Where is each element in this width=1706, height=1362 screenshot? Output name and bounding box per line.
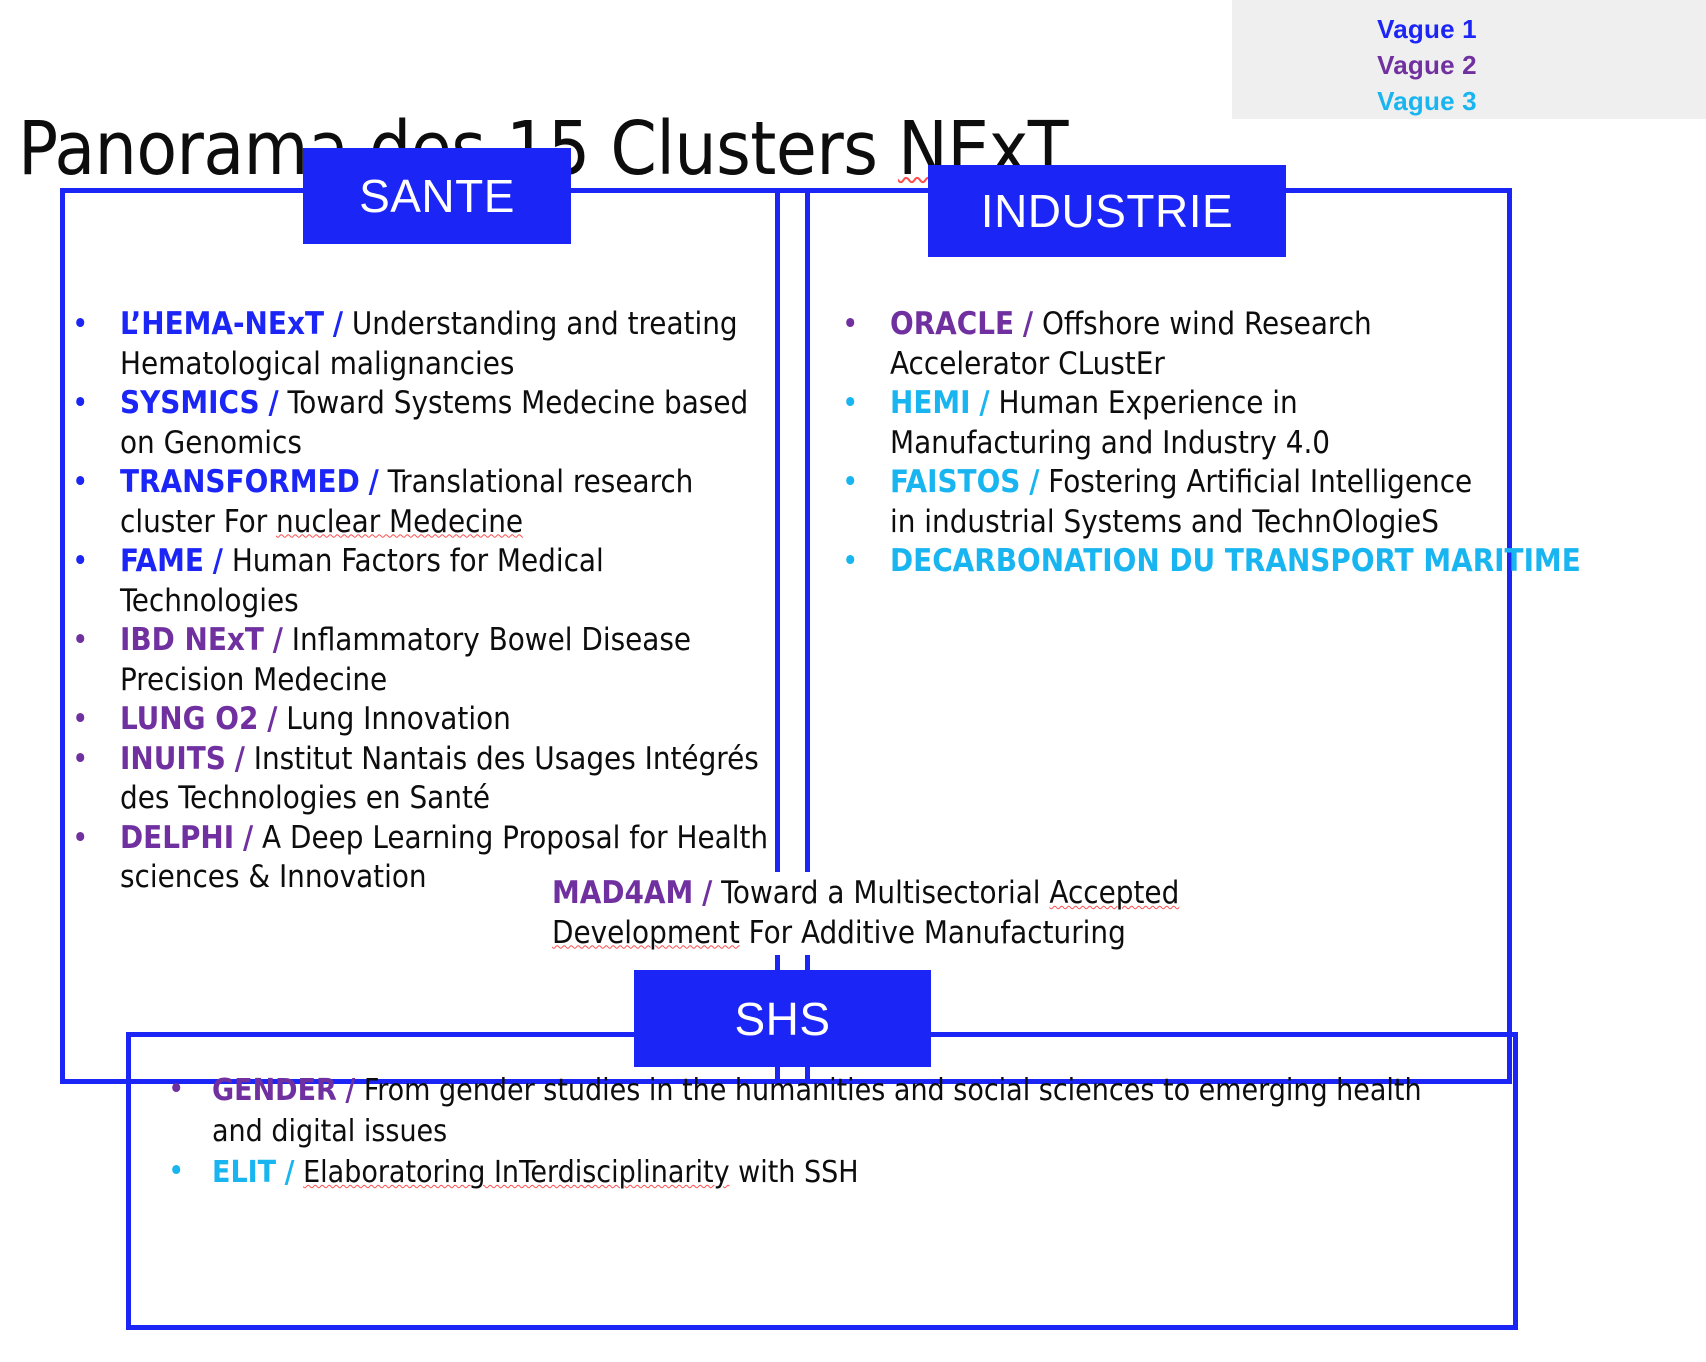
cluster-acronym: INUITS bbox=[120, 741, 226, 777]
separator-slash: / bbox=[213, 543, 223, 579]
cluster-acronym: DELPHI bbox=[120, 820, 234, 856]
section-header-shs: SHS bbox=[634, 970, 931, 1067]
bullet-icon: • bbox=[842, 305, 858, 345]
separator-slash: / bbox=[345, 1073, 355, 1108]
cluster-acronym: MAD4AM bbox=[552, 875, 693, 911]
section-header-industrie: INDUSTRIE bbox=[928, 165, 1286, 257]
bullet-icon: • bbox=[168, 1070, 184, 1110]
cluster-acronym: L’HEMA-NExT bbox=[120, 306, 324, 342]
cluster-acronym: FAISTOS bbox=[890, 464, 1020, 500]
bullet-icon: • bbox=[842, 463, 858, 503]
separator-slash: / bbox=[273, 622, 283, 658]
list-item: •FAME / Human Factors for Medical Techno… bbox=[62, 542, 772, 621]
cluster-acronym: GENDER bbox=[212, 1073, 337, 1108]
bullet-icon: • bbox=[72, 621, 88, 661]
list-item: •LUNG O2 / Lung Innovation bbox=[62, 700, 772, 740]
industrie-cluster-list: •ORACLE / Offshore wind Research Acceler… bbox=[832, 305, 1492, 582]
list-item: •ORACLE / Offshore wind Research Acceler… bbox=[832, 305, 1492, 384]
bullet-icon: • bbox=[72, 700, 88, 740]
spellcheck-underlined-text: nuclear Medecine bbox=[276, 504, 523, 540]
separator-slash: / bbox=[1029, 464, 1039, 500]
shs-cluster-list: •GENDER / From gender studies in the hum… bbox=[140, 1070, 1480, 1193]
wave-legend: Vague 1 Vague 2 Vague 3 bbox=[1232, 0, 1706, 119]
bullet-icon: • bbox=[72, 384, 88, 424]
separator-slash: / bbox=[268, 385, 278, 421]
cluster-acronym: SYSMICS bbox=[120, 385, 260, 421]
bullet-icon: • bbox=[72, 740, 88, 780]
cluster-acronym: TRANSFORMED bbox=[120, 464, 360, 500]
bullet-icon: • bbox=[168, 1152, 184, 1192]
separator-slash: / bbox=[285, 1155, 295, 1190]
list-item: •GENDER / From gender studies in the hum… bbox=[140, 1070, 1480, 1152]
cluster-acronym: LUNG O2 bbox=[120, 701, 258, 737]
list-item: •TRANSFORMED / Translational research cl… bbox=[62, 463, 772, 542]
bullet-icon: • bbox=[842, 542, 858, 582]
sante-cluster-list: •L’HEMA-NExT / Understanding and treatin… bbox=[62, 305, 772, 898]
separator-slash: / bbox=[369, 464, 379, 500]
separator-slash: / bbox=[979, 385, 989, 421]
list-item: •IBD NExT / Inflammatory Bowel Disease P… bbox=[62, 621, 772, 700]
list-item: •FAISTOS / Fostering Artificial Intellig… bbox=[832, 463, 1492, 542]
separator-slash: / bbox=[333, 306, 343, 342]
bullet-icon: • bbox=[72, 305, 88, 345]
cluster-acronym: HEMI bbox=[890, 385, 971, 421]
bullet-icon: • bbox=[842, 384, 858, 424]
bullet-icon: • bbox=[72, 542, 88, 582]
list-item: •L’HEMA-NExT / Understanding and treatin… bbox=[62, 305, 772, 384]
legend-item-vague-2: Vague 2 bbox=[1232, 50, 1622, 81]
legend-item-vague-3: Vague 3 bbox=[1232, 86, 1622, 117]
list-item: •ELIT / Elaboratoring InTerdisciplinarit… bbox=[140, 1152, 1480, 1193]
list-item: •INUITS / Institut Nantais des Usages In… bbox=[62, 740, 772, 819]
cluster-acronym: ELIT bbox=[212, 1155, 276, 1190]
separator-slash: / bbox=[1023, 306, 1033, 342]
list-item: •DECARBONATION DU TRANSPORT MARITIME bbox=[832, 542, 1492, 582]
separator-slash: / bbox=[243, 820, 253, 856]
section-header-sante: SANTE bbox=[303, 148, 571, 244]
cluster-acronym: IBD NExT bbox=[120, 622, 264, 658]
cluster-acronym: FAME bbox=[120, 543, 204, 579]
list-item: •SYSMICS / Toward Systems Medecine based… bbox=[62, 384, 772, 463]
cluster-acronym: ORACLE bbox=[890, 306, 1014, 342]
separator-slash: / bbox=[702, 875, 712, 911]
bullet-icon: • bbox=[72, 819, 88, 859]
bullet-icon: • bbox=[72, 463, 88, 503]
separator-slash: / bbox=[267, 701, 277, 737]
separator-slash: / bbox=[235, 741, 245, 777]
list-item: •HEMI / Human Experience in Manufacturin… bbox=[832, 384, 1492, 463]
mad4am-cluster-line: MAD4AM / Toward a Multisectorial Accepte… bbox=[548, 872, 1256, 955]
spellcheck-underlined-text: Elaboratoring InTerdisciplinarity bbox=[303, 1155, 729, 1190]
cluster-acronym: DECARBONATION DU TRANSPORT MARITIME bbox=[890, 543, 1581, 579]
cluster-description: Elaboratoring InTerdisciplinarity with S… bbox=[303, 1155, 858, 1190]
legend-item-vague-1: Vague 1 bbox=[1232, 14, 1622, 45]
cluster-description: From gender studies in the humanities an… bbox=[212, 1073, 1422, 1149]
cluster-description: Lung Innovation bbox=[286, 701, 511, 737]
